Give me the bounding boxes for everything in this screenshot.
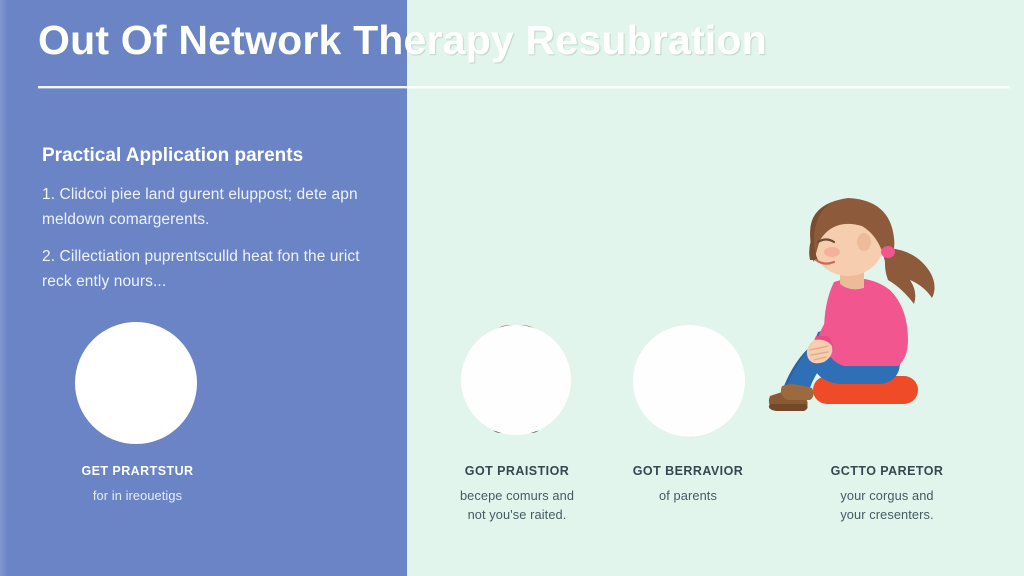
caption-block-2: GOT PRAISTIOR becepe comurs and not you'…: [424, 464, 610, 525]
caption-line-4-2: your cresenters.: [788, 505, 986, 525]
caption-line-4-1: your corgus and: [788, 486, 986, 506]
caption-title-1: GET PRARTSTUR: [35, 464, 240, 480]
left-panel-heading: Practical Application parents: [42, 145, 372, 168]
title-divider: [38, 86, 1010, 88]
left-text-block: Practical Application parents 1. Clidcoi…: [42, 145, 372, 306]
caption-title-3: GOT BERRAVIOR: [600, 464, 776, 480]
circle-backdrop: [75, 322, 197, 444]
caption-title-4: GCTTO PARETOR: [788, 464, 986, 480]
caption-block-3: GOT BERRAVIOR of parents: [600, 464, 776, 505]
woman-sitting-icon: [748, 190, 948, 440]
caption-block-4: GCTTO PARETOR your corgus and your crese…: [788, 464, 986, 525]
left-panel-item-1: 1. Clidcoi piee land gurent eluppost; de…: [42, 182, 372, 232]
illustration-child-teal-shirt: [75, 322, 197, 444]
header: Out Of Network Therapy Resubration: [0, 0, 1024, 100]
infographic-slide: Out Of Network Therapy Resubration Pract…: [0, 0, 1024, 576]
illustration-child-orange-shirt: [633, 325, 745, 437]
caption-line-2-2: not you'se raited.: [424, 505, 610, 525]
illustration-child-yellow-shirt: [461, 325, 571, 437]
circle-backdrop: [461, 325, 571, 435]
caption-line-1-1: for in ireouetigs: [35, 486, 240, 506]
caption-line-2-1: becepe comurs and: [424, 486, 610, 506]
circle-backdrop: [633, 325, 745, 437]
left-panel-item-2: 2. Cillectiation puprentsculld heat fon …: [42, 244, 372, 294]
illustration-woman-sitting-pink-sweater: [748, 190, 948, 440]
caption-title-2: GOT PRAISTIOR: [424, 464, 610, 480]
caption-line-3-1: of parents: [600, 486, 776, 506]
caption-block-1: GET PRARTSTUR for in ireouetigs: [35, 464, 240, 505]
page-title: Out Of Network Therapy Resubration: [38, 17, 767, 64]
